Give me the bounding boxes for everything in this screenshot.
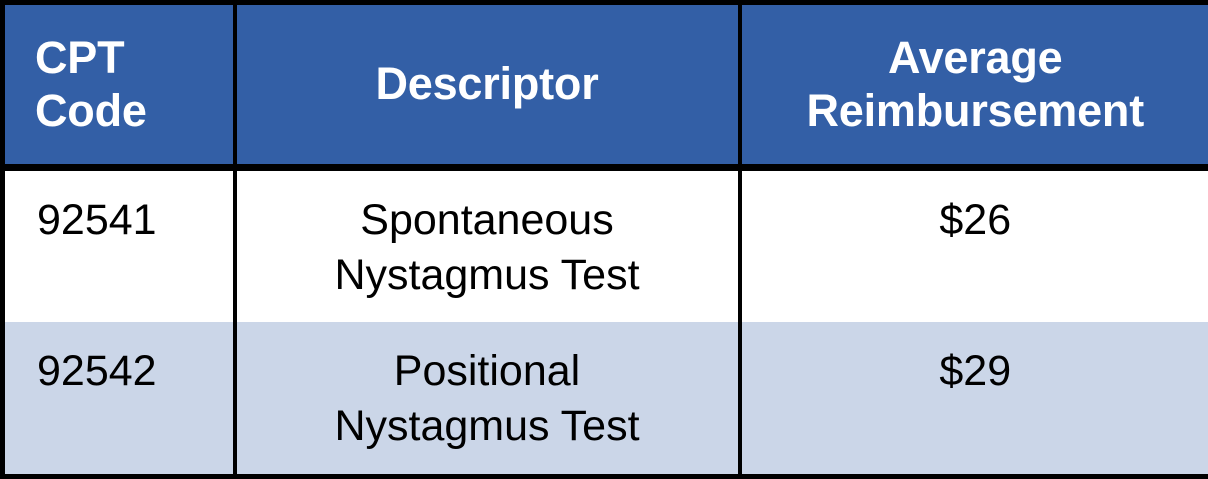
cell-average-reimbursement: $26 xyxy=(740,168,1208,323)
cpt-code-value: 92541 xyxy=(37,193,233,248)
descriptor-value-line-2: Nystagmus Test xyxy=(237,399,738,454)
cell-average-reimbursement: $29 xyxy=(740,322,1208,477)
average-reimbursement-value: $26 xyxy=(742,193,1208,248)
cell-descriptor: Positional Nystagmus Test xyxy=(235,322,740,477)
cell-descriptor: Spontaneous Nystagmus Test xyxy=(235,168,740,323)
cell-cpt-code: 92542 xyxy=(3,322,235,477)
table-header: CPT Code Descriptor Average Reimbursemen… xyxy=(3,3,1208,168)
column-header-cpt-code-line-1: CPT xyxy=(35,32,233,85)
cpt-reimbursement-table: CPT Code Descriptor Average Reimbursemen… xyxy=(0,0,1208,479)
descriptor-value-line-1: Positional xyxy=(237,344,738,399)
header-row: CPT Code Descriptor Average Reimbursemen… xyxy=(3,3,1208,168)
column-header-average-reimbursement: Average Reimbursement xyxy=(740,3,1208,168)
column-header-cpt-code: CPT Code xyxy=(3,3,235,168)
descriptor-value-line-1: Spontaneous xyxy=(237,193,738,248)
column-header-descriptor: Descriptor xyxy=(235,3,740,168)
column-header-average-reimbursement-line-1: Average xyxy=(742,32,1208,85)
column-header-descriptor-line-1: Descriptor xyxy=(237,58,738,111)
table-body: 92541 Spontaneous Nystagmus Test $26 925… xyxy=(3,168,1208,477)
average-reimbursement-value: $29 xyxy=(742,344,1208,399)
cpt-code-value: 92542 xyxy=(37,344,233,399)
cpt-reimbursement-table-container: CPT Code Descriptor Average Reimbursemen… xyxy=(0,0,1208,479)
table-row: 92542 Positional Nystagmus Test $29 xyxy=(3,322,1208,477)
descriptor-value-line-2: Nystagmus Test xyxy=(237,248,738,303)
table-row: 92541 Spontaneous Nystagmus Test $26 xyxy=(3,168,1208,323)
column-header-cpt-code-line-2: Code xyxy=(35,85,233,138)
cell-cpt-code: 92541 xyxy=(3,168,235,323)
column-header-average-reimbursement-line-2: Reimbursement xyxy=(742,85,1208,138)
